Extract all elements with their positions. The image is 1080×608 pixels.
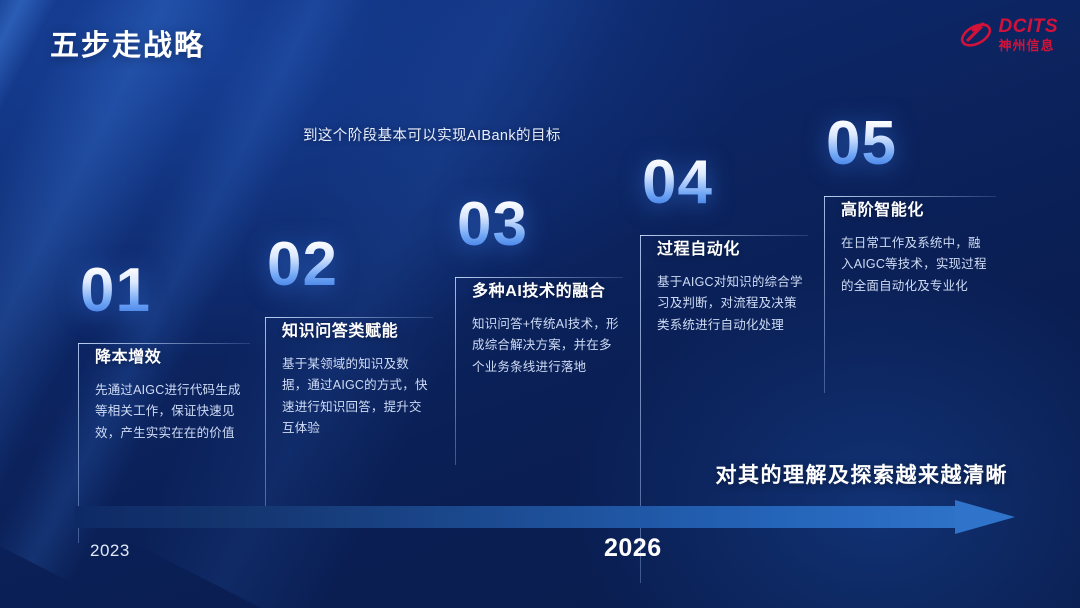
step-body: 在日常工作及系统中，融入AIGC等技术，实现过程的全面自动化及专业化	[841, 233, 993, 298]
timeline-arrow-icon	[75, 500, 1015, 534]
brand-logo: DCITS 神州信息	[959, 17, 1059, 52]
annotation-label: 到这个阶段基本可以实现AIBank的目标	[303, 124, 561, 145]
step-number: 04	[642, 154, 807, 213]
dcits-swirl-icon	[959, 18, 993, 52]
timeline-year-end: 2026	[604, 534, 662, 563]
slide-canvas: 五步走战略 DCITS 神州信息 到这个阶段基本可以实现AIBank的目标 01…	[0, 0, 1080, 608]
step-card-03: 03 多种AI技术的融合 知识问答+传统AI技术，形成综合解决方案，并在多个业务…	[455, 196, 624, 378]
step-top-rule	[265, 317, 433, 318]
arrow-shaft	[75, 506, 960, 528]
step-card-05: 05 高阶智能化 在日常工作及系统中，融入AIGC等技术，实现过程的全面自动化及…	[824, 115, 993, 297]
timeline-year-start: 2023	[90, 541, 130, 561]
step-bracket: 多种AI技术的融合 知识问答+传统AI技术，形成综合解决方案，并在多个业务条线进…	[455, 277, 624, 379]
arrow-head	[955, 500, 1015, 534]
logo-text-cn: 神州信息	[999, 39, 1059, 52]
page-title: 五步走战略	[50, 22, 205, 64]
step-top-rule	[455, 277, 623, 278]
step-card-04: 04 过程自动化 基于AIGC对知识的综合学习及判断，对流程及决策类系统进行自动…	[640, 154, 807, 336]
step-card-02: 02 知识问答类赋能 基于某领域的知识及数据，通过AIGC的方式，快速进行知识回…	[265, 236, 432, 440]
step-number: 03	[457, 196, 624, 255]
step-bracket: 过程自动化 基于AIGC对知识的综合学习及判断，对流程及决策类系统进行自动化处理	[640, 235, 807, 337]
step-card-01: 01 降本增效 先通过AIGC进行代码生成等相关工作，保证快速见效，产生实实在在…	[78, 262, 247, 444]
step-body: 基于AIGC对知识的综合学习及判断，对流程及决策类系统进行自动化处理	[657, 272, 807, 337]
step-bracket: 降本增效 先通过AIGC进行代码生成等相关工作，保证快速见效，产生实实在在的价值	[78, 343, 247, 445]
step-bracket: 高阶智能化 在日常工作及系统中，融入AIGC等技术，实现过程的全面自动化及专业化	[824, 196, 993, 298]
step-number: 02	[267, 236, 432, 295]
logo-text-en: DCITS	[999, 17, 1059, 36]
step-body: 基于某领域的知识及数据，通过AIGC的方式，快速进行知识回答，提升交互体验	[282, 354, 432, 440]
step-title: 知识问答类赋能	[282, 317, 432, 341]
timeline-tagline: 对其的理解及探索越来越清晰	[716, 459, 1009, 489]
step-title: 高阶智能化	[841, 196, 993, 220]
step-bracket: 知识问答类赋能 基于某领域的知识及数据，通过AIGC的方式，快速进行知识回答，提…	[265, 317, 432, 440]
step-body: 知识问答+传统AI技术，形成综合解决方案，并在多个业务条线进行落地	[472, 314, 624, 379]
step-top-rule	[824, 196, 996, 197]
step-top-rule	[640, 235, 808, 236]
step-number: 01	[80, 262, 247, 321]
step-number: 05	[826, 115, 993, 174]
step-top-rule	[78, 343, 250, 344]
step-body: 先通过AIGC进行代码生成等相关工作，保证快速见效，产生实实在在的价值	[95, 380, 247, 445]
step-title: 多种AI技术的融合	[472, 277, 624, 301]
background-diagonal-stripe	[0, 0, 67, 596]
step-title: 过程自动化	[657, 235, 807, 259]
step-title: 降本增效	[95, 343, 247, 367]
